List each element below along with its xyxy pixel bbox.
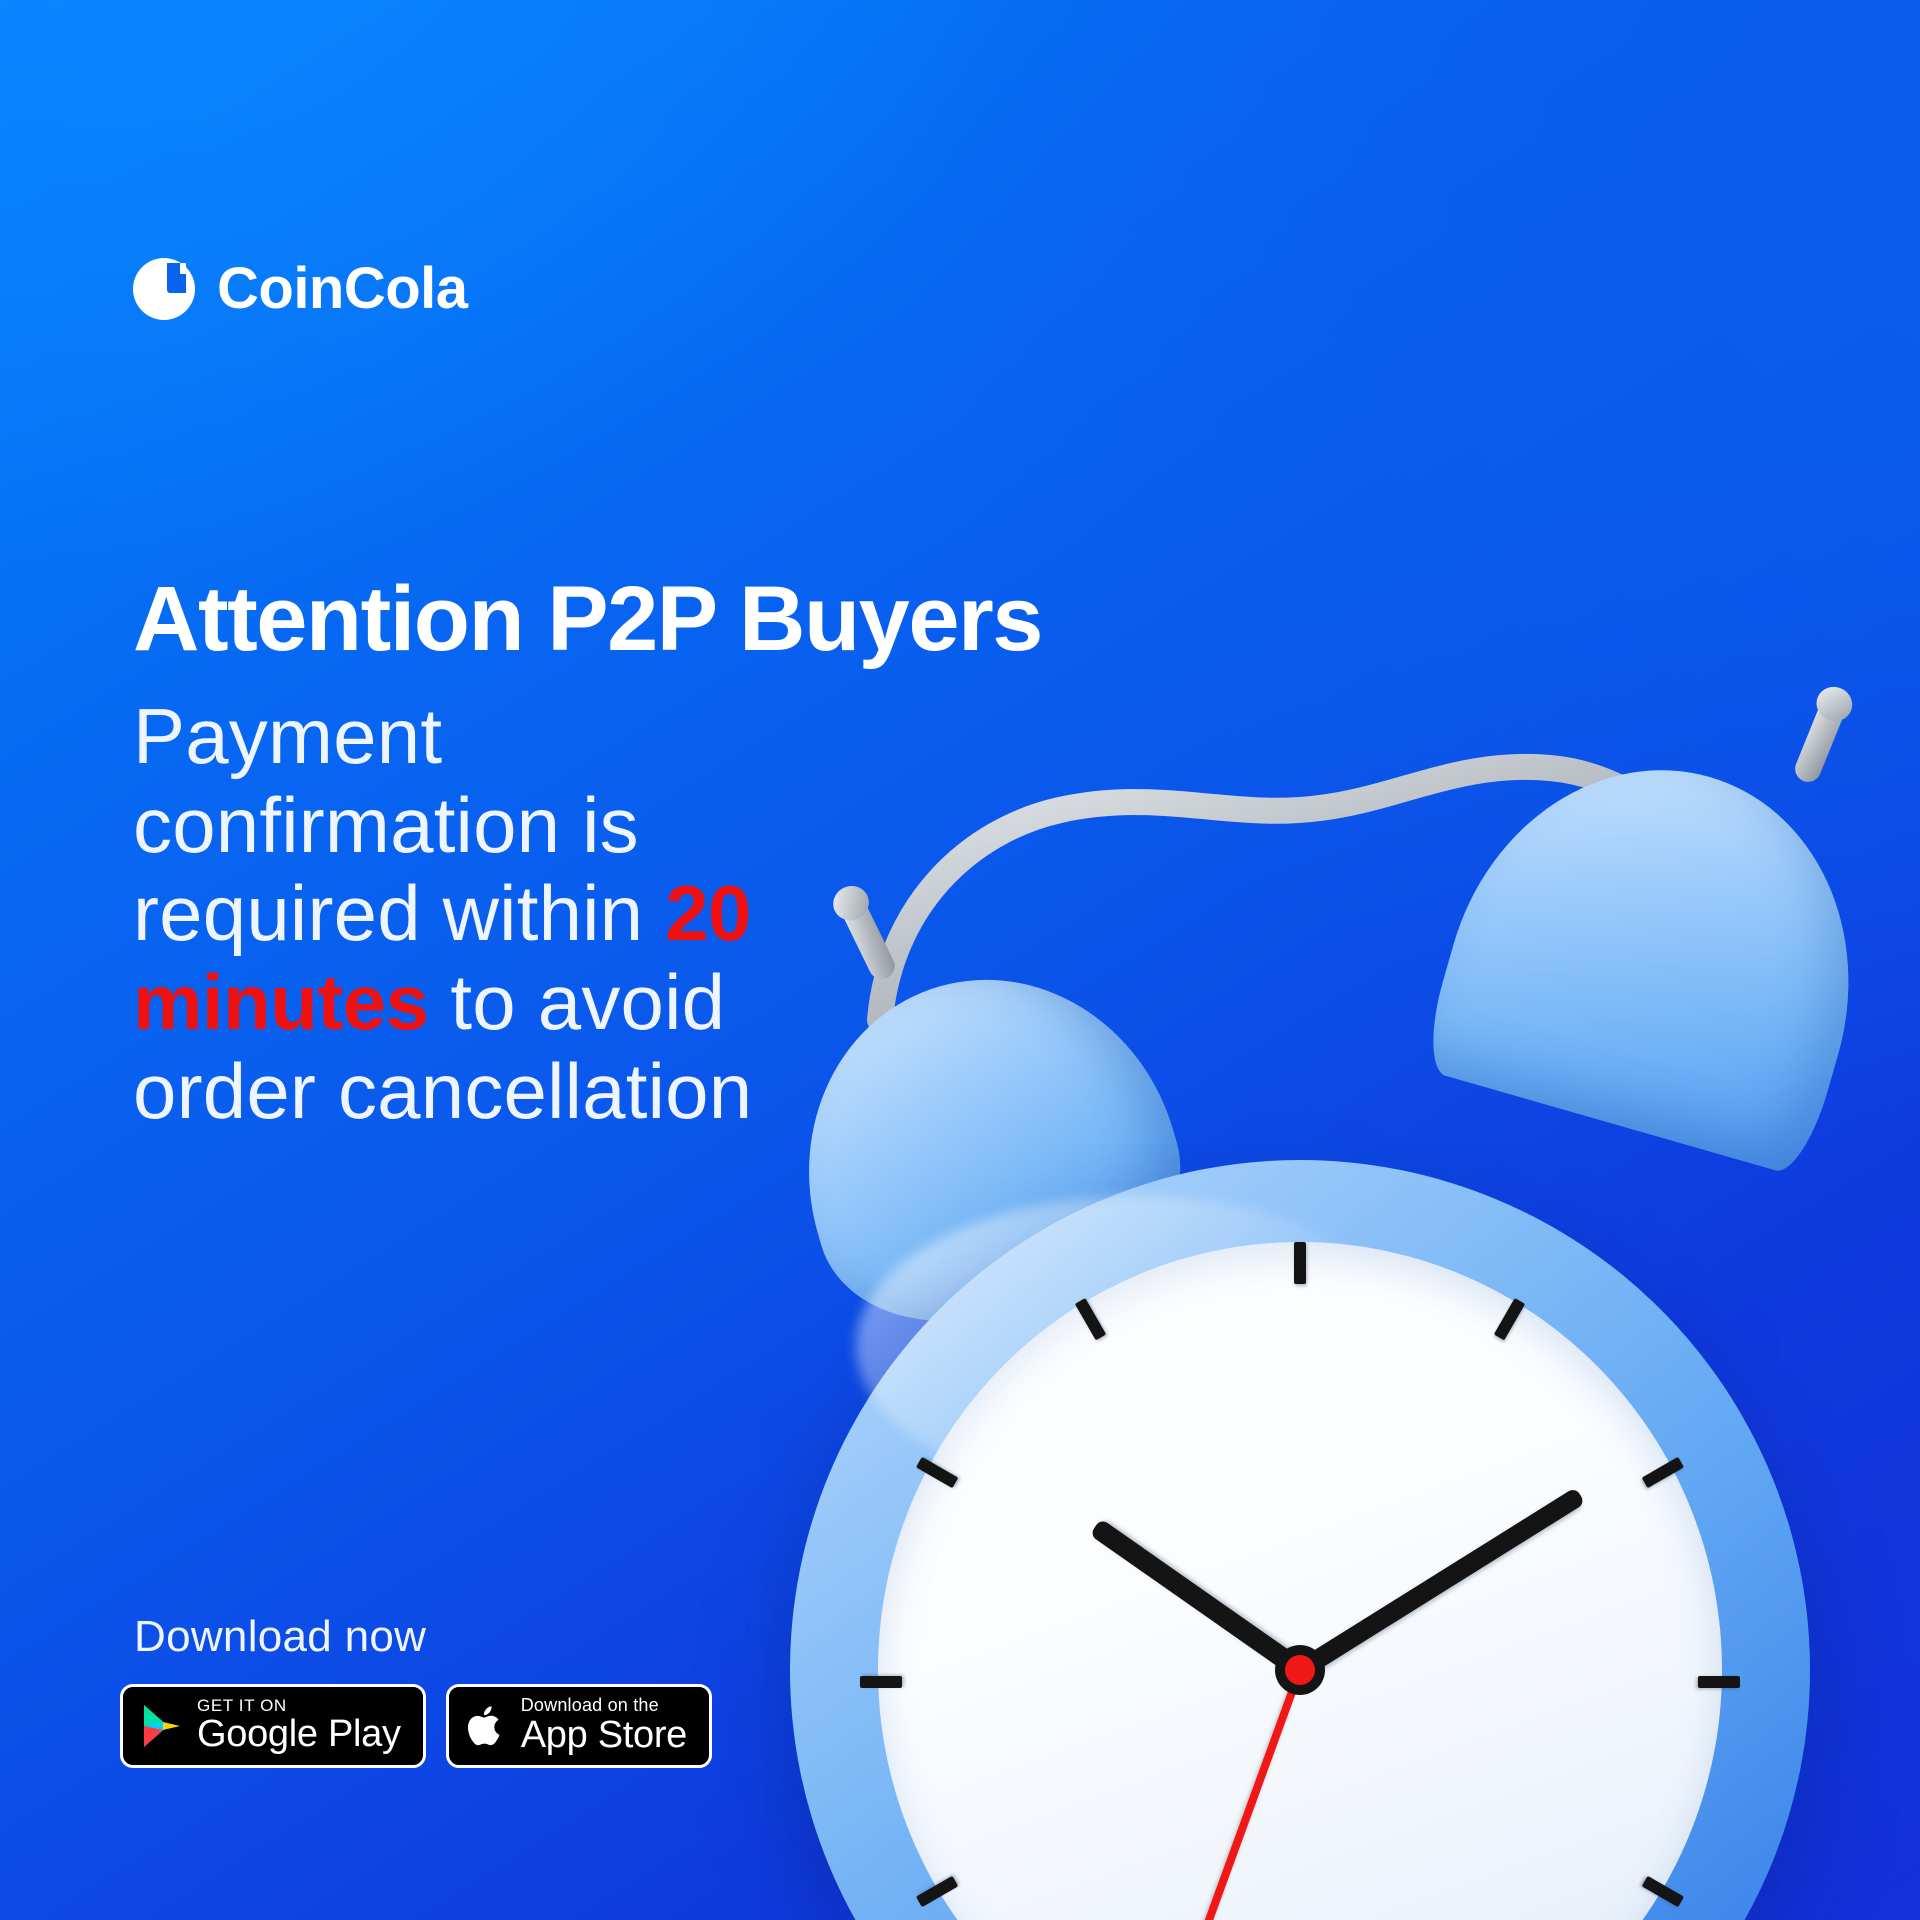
subcopy-before: Payment confirmation is required within	[133, 692, 665, 958]
page-title: Attention P2P Buyers	[133, 572, 1263, 668]
logo-stem	[180, 263, 186, 274]
clock-tick	[916, 1457, 1303, 1687]
clock-tick	[1075, 1679, 1305, 1920]
app-store-small-label: Download on the	[521, 1696, 687, 1716]
clock-hour-hand	[1089, 1518, 1305, 1678]
apple-logo-icon	[467, 1702, 507, 1750]
clock-tick	[1300, 1676, 1740, 1688]
download-section: Download now GET IT ON Google Play	[120, 1612, 712, 1768]
coincola-circle-mark-icon	[133, 258, 195, 320]
clock-tick	[860, 1676, 1300, 1688]
clock-tick-mark	[1294, 1242, 1306, 1284]
subcopy: Payment confirmation is required within …	[133, 692, 793, 1137]
store-badges: GET IT ON Google Play Download on the Ap…	[120, 1684, 712, 1768]
clock-tick	[1295, 1298, 1525, 1685]
promo-poster: CoinCola	[0, 0, 1920, 1920]
google-play-big-label: Google Play	[197, 1715, 401, 1755]
app-store-labels: Download on the App Store	[521, 1696, 687, 1756]
clock-tick-mark	[916, 1876, 958, 1907]
clock-tick	[1294, 1682, 1306, 1920]
clock-tick	[1075, 1298, 1305, 1685]
clock-dial	[878, 1242, 1722, 1920]
clock-tick-mark	[1642, 1876, 1684, 1907]
download-label: Download now	[134, 1612, 712, 1662]
clock-tick-mark	[1075, 1298, 1106, 1340]
brand-logo[interactable]: CoinCola	[133, 258, 468, 320]
brand-name: CoinCola	[217, 260, 468, 318]
clock-tick	[916, 1677, 1303, 1907]
clock-tick-mark	[1698, 1676, 1740, 1688]
google-play-labels: GET IT ON Google Play	[197, 1697, 401, 1756]
clock-tick	[1297, 1677, 1684, 1907]
clock-tick-mark	[1494, 1298, 1525, 1340]
clock-minute-hand	[1295, 1487, 1585, 1678]
google-play-badge[interactable]: GET IT ON Google Play	[120, 1684, 426, 1768]
app-store-big-label: App Store	[521, 1716, 687, 1756]
clock-tick-mark	[860, 1676, 902, 1688]
clock-tick-mark	[1642, 1457, 1684, 1488]
clock-tick-mark	[916, 1457, 958, 1488]
google-play-icon	[141, 1703, 183, 1749]
clock-tick	[1294, 1242, 1306, 1682]
app-store-badge[interactable]: Download on the App Store	[446, 1684, 712, 1768]
copy-block: Attention P2P Buyers Payment confirmatio…	[133, 572, 1263, 1136]
